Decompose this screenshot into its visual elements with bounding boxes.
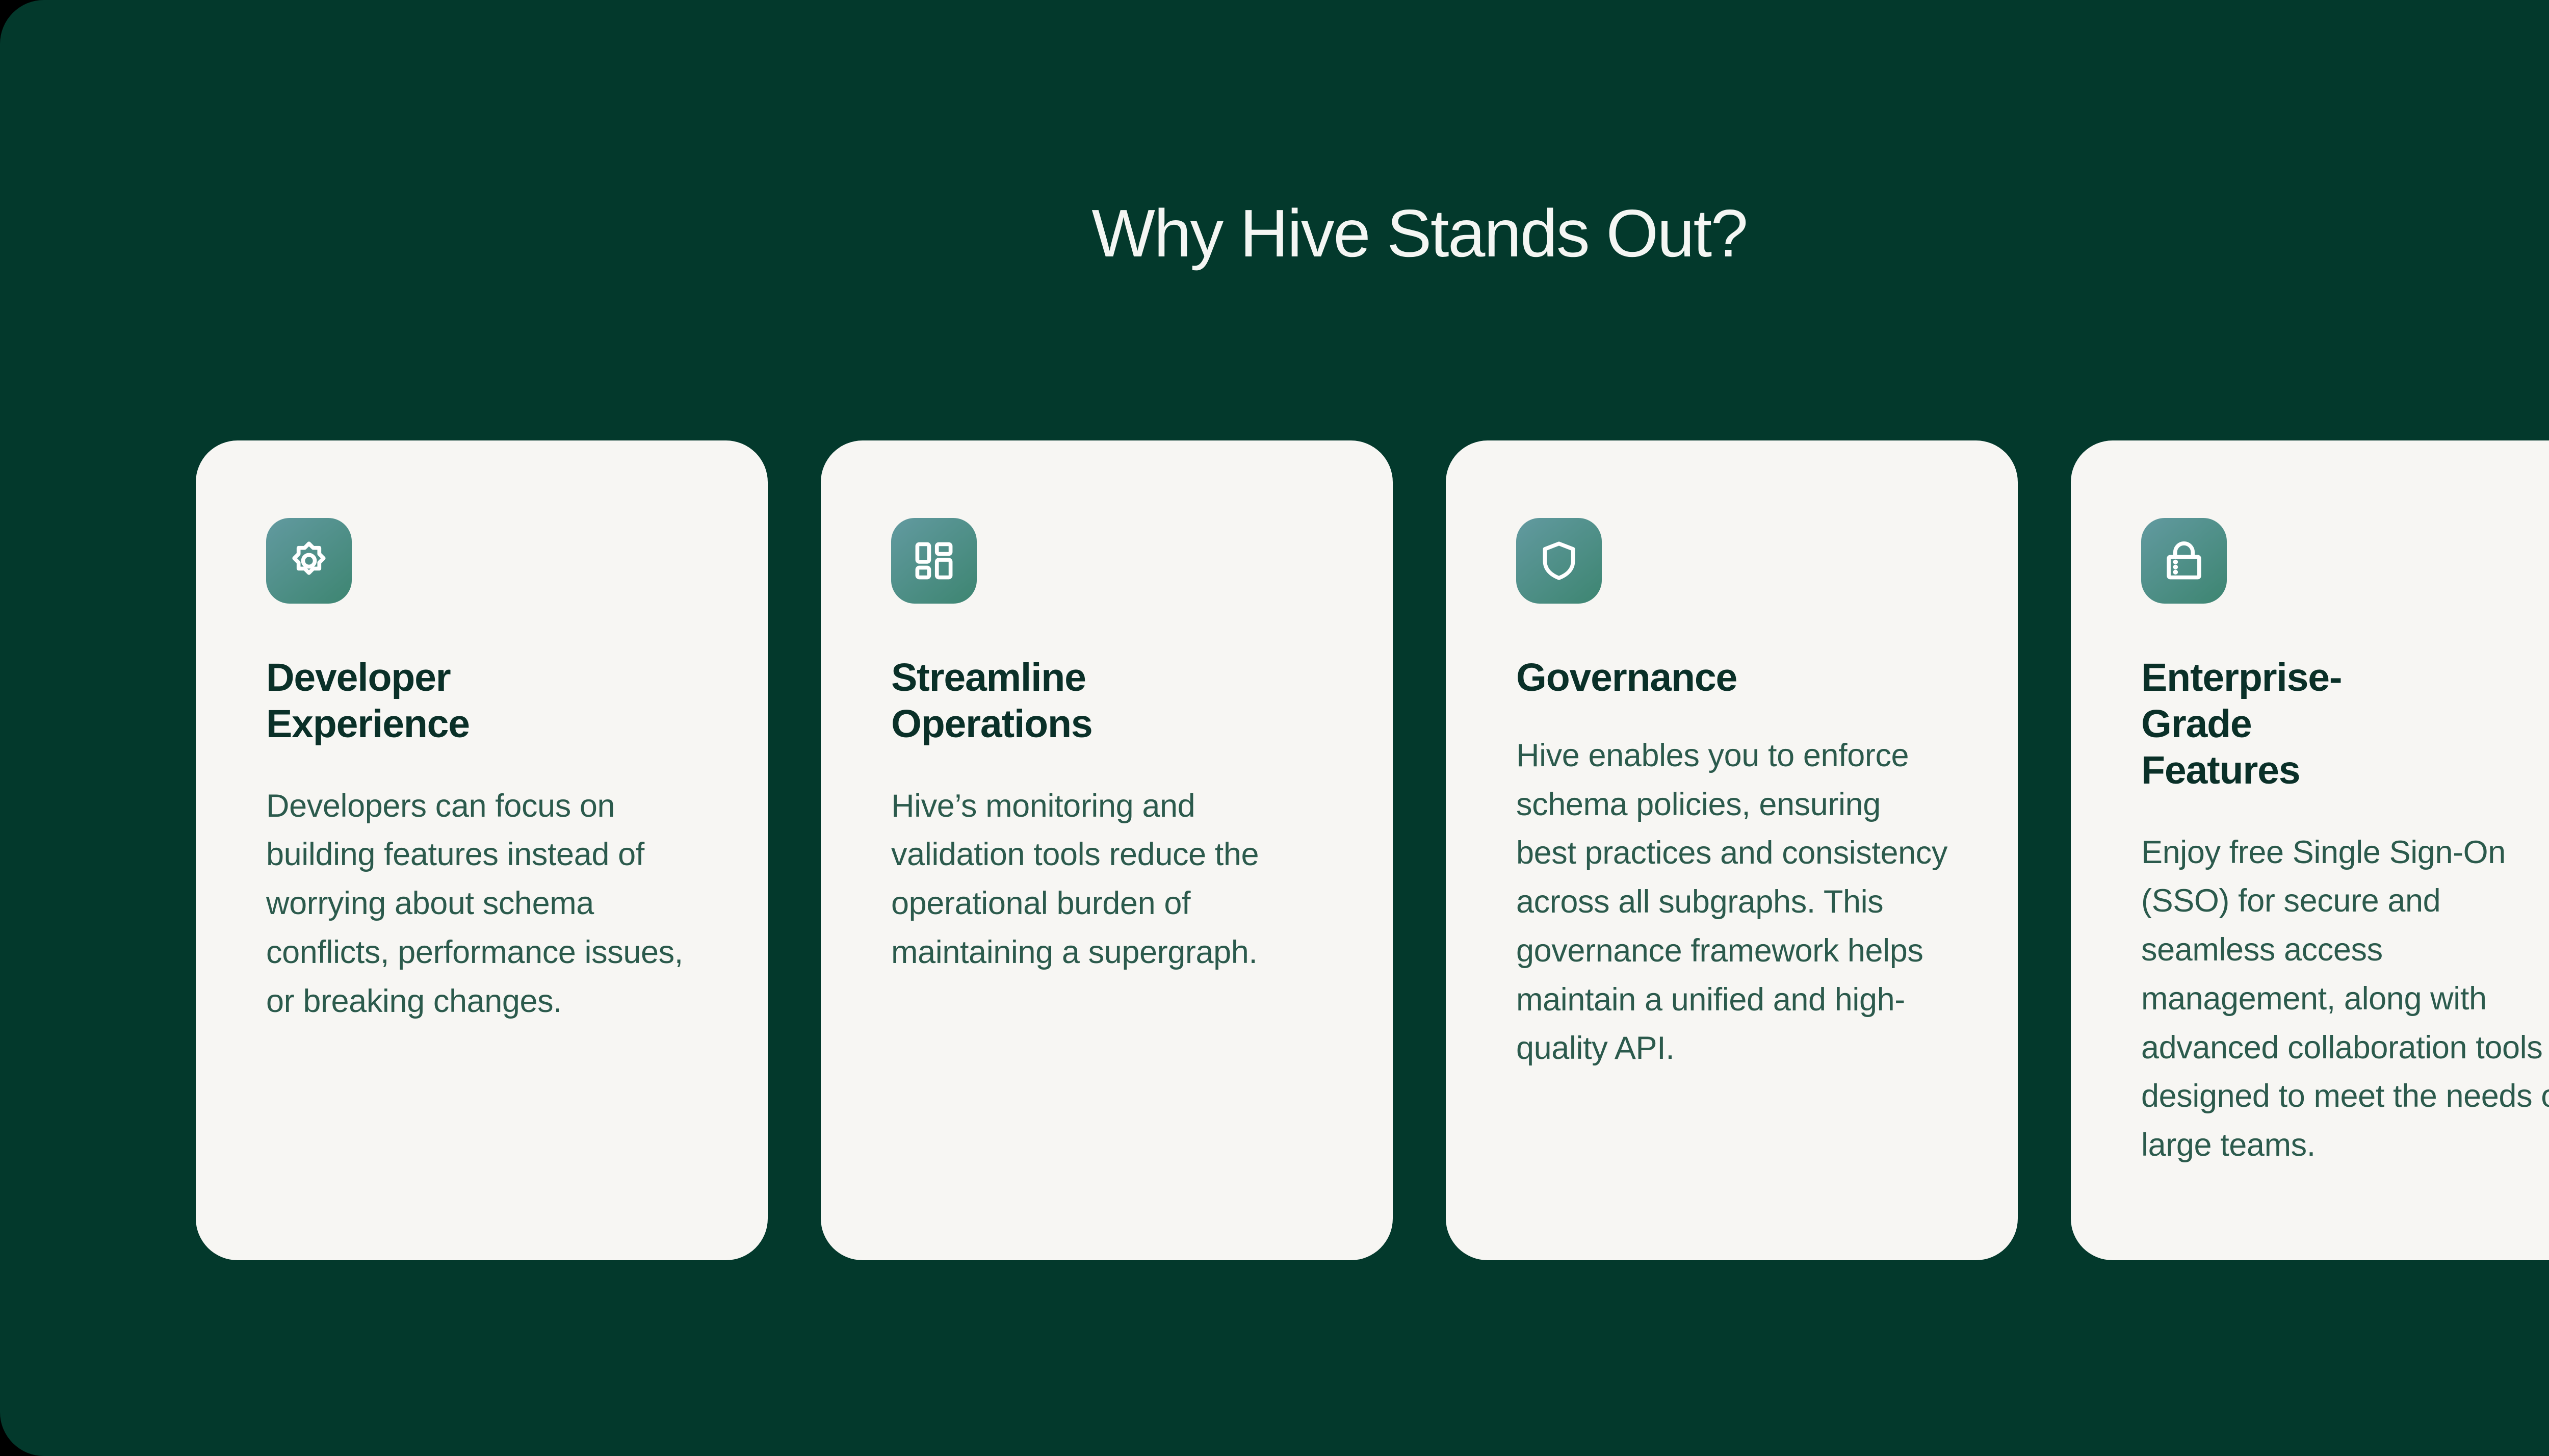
page-title: Why Hive Stands Out? [0, 196, 2549, 270]
feature-card-governance[interactable]: Governance Hive enables you to enforce s… [1446, 440, 2018, 1260]
dashboard-grid-icon [891, 518, 977, 604]
shield-icon [1516, 518, 1602, 604]
feature-card-streamline-operations[interactable]: Streamline Operations Hive’s monitoring … [821, 440, 1393, 1260]
gear-sun-icon [266, 518, 352, 604]
card-body: Hive enables you to enforce schema polic… [1516, 732, 1947, 1073]
feature-card-enterprise-grade-features[interactable]: Enterprise-Grade Features Enjoy free Sin… [2071, 440, 2549, 1260]
card-title: Governance [1516, 655, 1712, 701]
lock-icon [2141, 518, 2227, 604]
feature-card-developer-experience[interactable]: Developer Experience Developers can focu… [196, 440, 768, 1260]
feature-section: Why Hive Stands Out? Developer Experienc… [0, 0, 2549, 1456]
card-body: Hive’s monitoring and validation tools r… [891, 782, 1322, 977]
card-title: Developer Experience [266, 655, 462, 747]
feature-card-grid: Developer Experience Developers can focu… [196, 440, 2549, 1260]
card-body: Developers can focus on building feature… [266, 782, 697, 1026]
card-body: Enjoy free Single Sign-On (SSO) for secu… [2141, 828, 2549, 1170]
card-title: Streamline Operations [891, 655, 1087, 747]
card-title: Enterprise-Grade Features [2141, 655, 2337, 794]
